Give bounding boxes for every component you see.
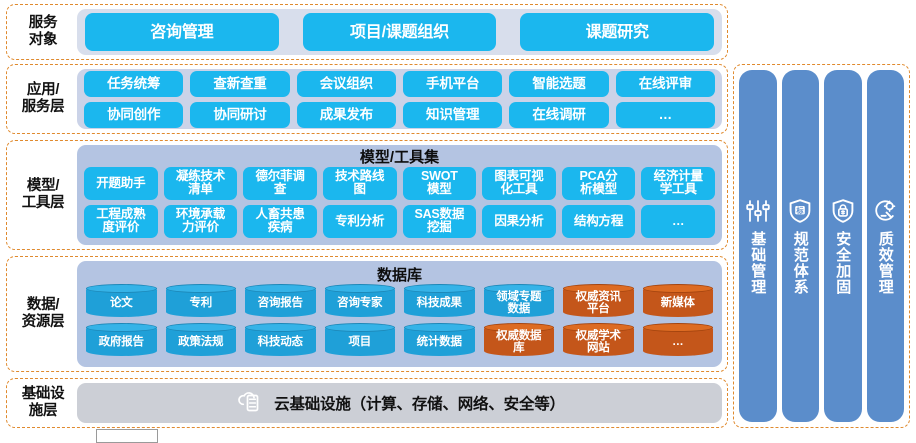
model-tool-chip-more[interactable]: … <box>641 205 715 238</box>
layer-label-infrastructure: 基础设 施层 <box>12 386 77 420</box>
layer-service-object: 服务 对象 咨询管理 项目/课题组织 课题研究 <box>6 4 728 60</box>
layer-panel-data-resource: 数据库 论文 专利 咨询报告 咨询专家 科技成果 领域专题 数据 权威资讯 平台… <box>77 261 722 367</box>
database-cylinder-label: … <box>672 332 683 348</box>
shield-lock-icon <box>830 198 856 224</box>
sliders-icon <box>745 198 771 224</box>
database-cylinder-label: 权威资讯 平台 <box>576 287 621 315</box>
database-cylinder[interactable]: 论文 <box>86 285 157 317</box>
database-cylinder[interactable]: 领域专题 数据 <box>484 285 555 317</box>
model-tool-chip[interactable]: 工程成熟 度评价 <box>84 205 158 238</box>
layer-model-tool: 模型/ 工具层 模型/工具集 开题助手 凝练技术 清单 德尔菲调 查 技术路线 … <box>6 140 728 250</box>
database-cylinder-label: 权威学术 网站 <box>576 326 621 354</box>
database-cylinder-more[interactable]: … <box>643 324 714 356</box>
model-tool-chip[interactable]: PCA分 析模型 <box>562 167 636 200</box>
database-cylinder-external[interactable]: 新媒体 <box>643 285 714 317</box>
application-chip[interactable]: 在线评审 <box>616 71 715 97</box>
layer-infrastructure: 基础设 施层 云基础设施（计算、存储、网络、安全等） <box>6 378 728 428</box>
database-cylinder[interactable]: 专利 <box>166 285 237 317</box>
database-cylinder-label: 科技动态 <box>258 332 303 348</box>
layer-label-data-resource: 数据/ 资源层 <box>12 297 77 331</box>
cylinder-row: 政府报告 政策法规 科技动态 项目 统计数据 权威数据 库 权威学术 网站 … <box>77 324 722 356</box>
pillar-label: 基础管理 <box>748 231 767 295</box>
model-tool-chip[interactable]: SAS数据 挖掘 <box>403 205 477 238</box>
database-cylinder[interactable]: 咨询报告 <box>245 285 316 317</box>
infrastructure-label: 云基础设施（计算、存储、网络、安全等） <box>274 392 565 414</box>
database-cylinder-external[interactable]: 权威数据 库 <box>484 324 555 356</box>
chip-row: 咨询管理 项目/课题组织 课题研究 <box>77 13 722 51</box>
panel-title-database: 数据库 <box>77 266 722 285</box>
database-cylinder-label: 政策法规 <box>178 332 223 348</box>
layer-label-model-tool: 模型/ 工具层 <box>12 178 77 212</box>
application-chip[interactable]: 手机平台 <box>403 71 502 97</box>
application-chip[interactable]: 成果发布 <box>297 102 396 128</box>
chip-row: 开题助手 凝练技术 清单 德尔菲调 查 技术路线 图 SWOT 模型 图表可视 … <box>77 167 722 200</box>
pillar-foundation-management[interactable]: 基础管理 <box>739 70 777 422</box>
pillar-label: 规范体系 <box>791 231 810 295</box>
application-chip[interactable]: 协同创作 <box>84 102 183 128</box>
pillar-label: 安全加固 <box>833 231 852 295</box>
model-tool-chip[interactable]: 结构方程 <box>562 205 636 238</box>
application-chip[interactable]: 在线调研 <box>509 102 608 128</box>
model-tool-chip[interactable]: SWOT 模型 <box>403 167 477 200</box>
layer-label-service-object: 服务 对象 <box>12 15 77 49</box>
database-cylinder[interactable]: 科技成果 <box>404 285 475 317</box>
chip-row: 任务统筹 查新查重 会议组织 手机平台 智能选题 在线评审 <box>77 71 722 97</box>
database-cylinder[interactable]: 政策法规 <box>166 324 237 356</box>
database-cylinder-label: 论文 <box>110 293 133 309</box>
database-cylinder[interactable]: 咨询专家 <box>325 285 396 317</box>
layer-panel-model-tool: 模型/工具集 开题助手 凝练技术 清单 德尔菲调 查 技术路线 图 SWOT 模… <box>77 145 722 245</box>
database-cylinder[interactable]: 统计数据 <box>404 324 475 356</box>
cylinder-row: 论文 专利 咨询报告 咨询专家 科技成果 领域专题 数据 权威资讯 平台 新媒体 <box>77 285 722 317</box>
database-cylinder-label: 政府报告 <box>99 332 144 348</box>
layer-panel-application-service: 任务统筹 查新查重 会议组织 手机平台 智能选题 在线评审 协同创作 协同研讨 … <box>77 69 722 129</box>
database-cylinder-label: 咨询报告 <box>258 293 303 309</box>
database-cylinder-label: 领域专题 数据 <box>496 287 541 315</box>
model-tool-chip[interactable]: 因果分析 <box>482 205 556 238</box>
database-cylinder-label: 咨询专家 <box>337 293 382 309</box>
panel-title-model-toolset: 模型/工具集 <box>77 148 722 167</box>
pillar-label: 质效管理 <box>876 231 895 295</box>
layer-label-application-service: 应用/ 服务层 <box>12 82 77 116</box>
cut-off-element <box>96 429 158 443</box>
model-tool-chip[interactable]: 环境承载 力评价 <box>164 205 238 238</box>
application-chip[interactable]: 任务统筹 <box>84 71 183 97</box>
model-tool-chip[interactable]: 图表可视 化工具 <box>482 167 556 200</box>
shield-standard-icon: 标 <box>787 198 813 224</box>
application-chip[interactable]: 查新查重 <box>190 71 289 97</box>
service-object-chip[interactable]: 咨询管理 <box>85 13 279 51</box>
chip-row: 协同创作 协同研讨 成果发布 知识管理 在线调研 … <box>77 102 722 128</box>
model-tool-chip[interactable]: 人畜共患 疾病 <box>243 205 317 238</box>
service-object-chip[interactable]: 课题研究 <box>520 13 714 51</box>
model-tool-chip[interactable]: 凝练技术 清单 <box>164 167 238 200</box>
database-cylinder[interactable]: 政府报告 <box>86 324 157 356</box>
governance-pillars: 基础管理 标 规范体系 安全加固 <box>733 64 910 428</box>
application-chip[interactable]: 知识管理 <box>403 102 502 128</box>
layer-data-resource: 数据/ 资源层 数据库 论文 专利 咨询报告 咨询专家 科技成果 领域专题 数据… <box>6 256 728 372</box>
chip-row: 工程成熟 度评价 环境承载 力评价 人畜共患 疾病 专利分析 SAS数据 挖掘 … <box>77 205 722 238</box>
architecture-diagram: 服务 对象 咨询管理 项目/课题组织 课题研究 应用/ 服务层 任务统筹 查新查… <box>0 0 916 432</box>
database-cylinder-label: 权威数据 库 <box>496 326 541 354</box>
model-tool-chip[interactable]: 专利分析 <box>323 205 397 238</box>
layer-panel-service-object: 咨询管理 项目/课题组织 课题研究 <box>77 9 722 55</box>
service-object-chip[interactable]: 项目/课题组织 <box>303 13 497 51</box>
model-tool-chip[interactable]: 开题助手 <box>84 167 158 200</box>
application-chip-more[interactable]: … <box>616 102 715 128</box>
quality-gear-icon <box>872 198 898 224</box>
layer-panel-infrastructure: 云基础设施（计算、存储、网络、安全等） <box>77 383 722 423</box>
svg-text:标: 标 <box>796 205 805 214</box>
model-tool-chip[interactable]: 技术路线 图 <box>323 167 397 200</box>
layer-application-service: 应用/ 服务层 任务统筹 查新查重 会议组织 手机平台 智能选题 在线评审 协同… <box>6 64 728 134</box>
pillar-quality-efficiency-management[interactable]: 质效管理 <box>867 70 905 422</box>
cloud-server-icon <box>234 390 264 416</box>
database-cylinder-label: 新媒体 <box>661 293 695 309</box>
model-tool-chip[interactable]: 德尔菲调 查 <box>243 167 317 200</box>
database-cylinder-external[interactable]: 权威学术 网站 <box>563 324 634 356</box>
database-cylinder-label: 科技成果 <box>417 293 462 309</box>
database-cylinder[interactable]: 项目 <box>325 324 396 356</box>
application-chip[interactable]: 协同研讨 <box>190 102 289 128</box>
pillar-security-hardening[interactable]: 安全加固 <box>824 70 862 422</box>
application-chip[interactable]: 会议组织 <box>297 71 396 97</box>
pillar-standard-system[interactable]: 标 规范体系 <box>782 70 820 422</box>
database-cylinder-external[interactable]: 权威资讯 平台 <box>563 285 634 317</box>
database-cylinder-label: 项目 <box>348 332 371 348</box>
model-tool-chip[interactable]: 经济计量 学工具 <box>641 167 715 200</box>
application-chip[interactable]: 智能选题 <box>509 71 608 97</box>
database-cylinder[interactable]: 科技动态 <box>245 324 316 356</box>
database-cylinder-label: 专利 <box>189 293 212 309</box>
database-cylinder-label: 统计数据 <box>417 332 462 348</box>
